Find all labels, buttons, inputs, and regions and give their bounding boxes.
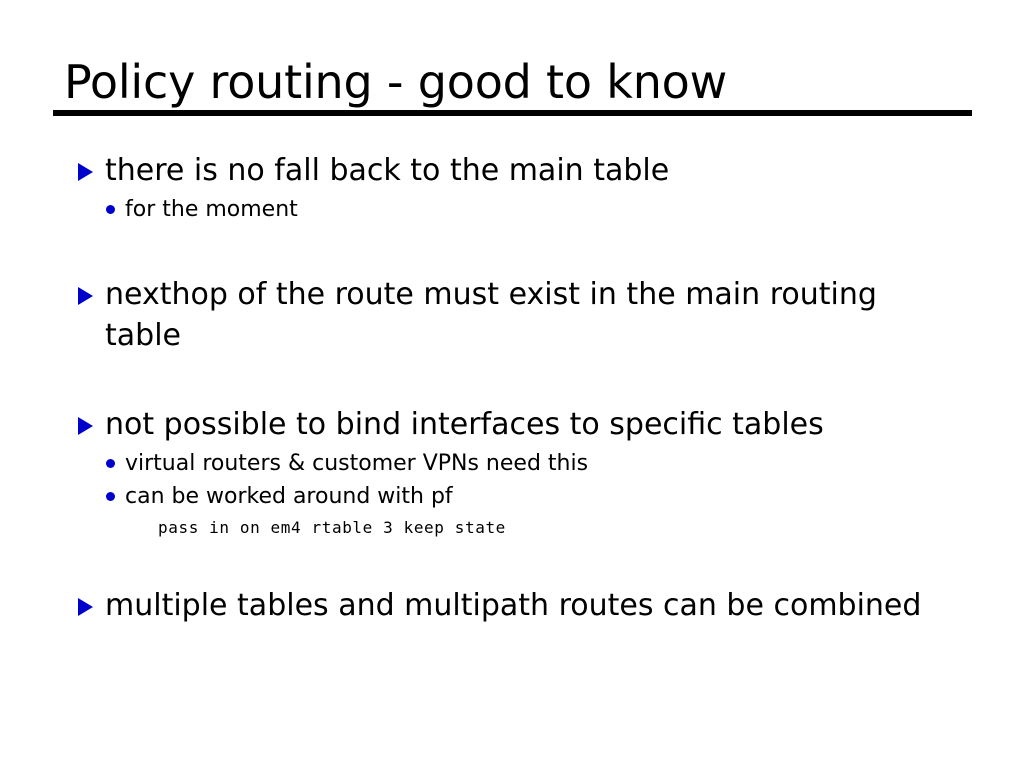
round-bullet-icon	[106, 205, 115, 214]
bullet-item-level2: can be worked around with pf	[0, 480, 1024, 513]
triangle-right-bullet-icon	[78, 287, 93, 305]
slide-body: there is no fall back to the main table …	[0, 150, 1024, 626]
bullet-item-level1: multiple tables and multipath routes can…	[0, 585, 1024, 626]
triangle-right-bullet-icon	[78, 163, 93, 181]
bullet-item-level1: there is no fall back to the main table	[0, 150, 1024, 191]
bullet-item-level2: for the moment	[0, 193, 1024, 226]
bullet-group: there is no fall back to the main table …	[0, 150, 1024, 226]
bullet-item-level2: virtual routers & customer VPNs need thi…	[0, 447, 1024, 480]
slide-title: Policy routing - good to know	[64, 54, 984, 110]
round-bullet-icon	[106, 492, 115, 501]
sub-bullet-list: for the moment	[0, 193, 1024, 226]
bullet-item-level1: not possible to bind interfaces to speci…	[0, 404, 1024, 445]
sub-bullet-list: virtual routers & customer VPNs need thi…	[0, 447, 1024, 543]
bullet-item-level1: nexthop of the route must exist in the m…	[0, 274, 1024, 356]
bullet-text: can be worked around with pf	[125, 484, 453, 509]
bullet-group: nexthop of the route must exist in the m…	[0, 274, 1024, 356]
bullet-text: nexthop of the route must exist in the m…	[105, 277, 877, 353]
code-snippet: pass in on em4 rtable 3 keep state	[0, 513, 1024, 543]
bullet-group: multiple tables and multipath routes can…	[0, 585, 1024, 626]
bullet-group: not possible to bind interfaces to speci…	[0, 404, 1024, 543]
bullet-text: virtual routers & customer VPNs need thi…	[125, 451, 588, 476]
bullet-text: multiple tables and multipath routes can…	[105, 588, 921, 623]
triangle-right-bullet-icon	[78, 598, 93, 616]
round-bullet-icon	[106, 459, 115, 468]
bullet-text: for the moment	[125, 197, 298, 222]
bullet-text: there is no fall back to the main table	[105, 153, 669, 188]
slide-canvas: Policy routing - good to know there is n…	[0, 0, 1024, 768]
triangle-right-bullet-icon	[78, 417, 93, 435]
bullet-text: not possible to bind interfaces to speci…	[105, 407, 824, 442]
title-underline-rule	[53, 110, 972, 116]
